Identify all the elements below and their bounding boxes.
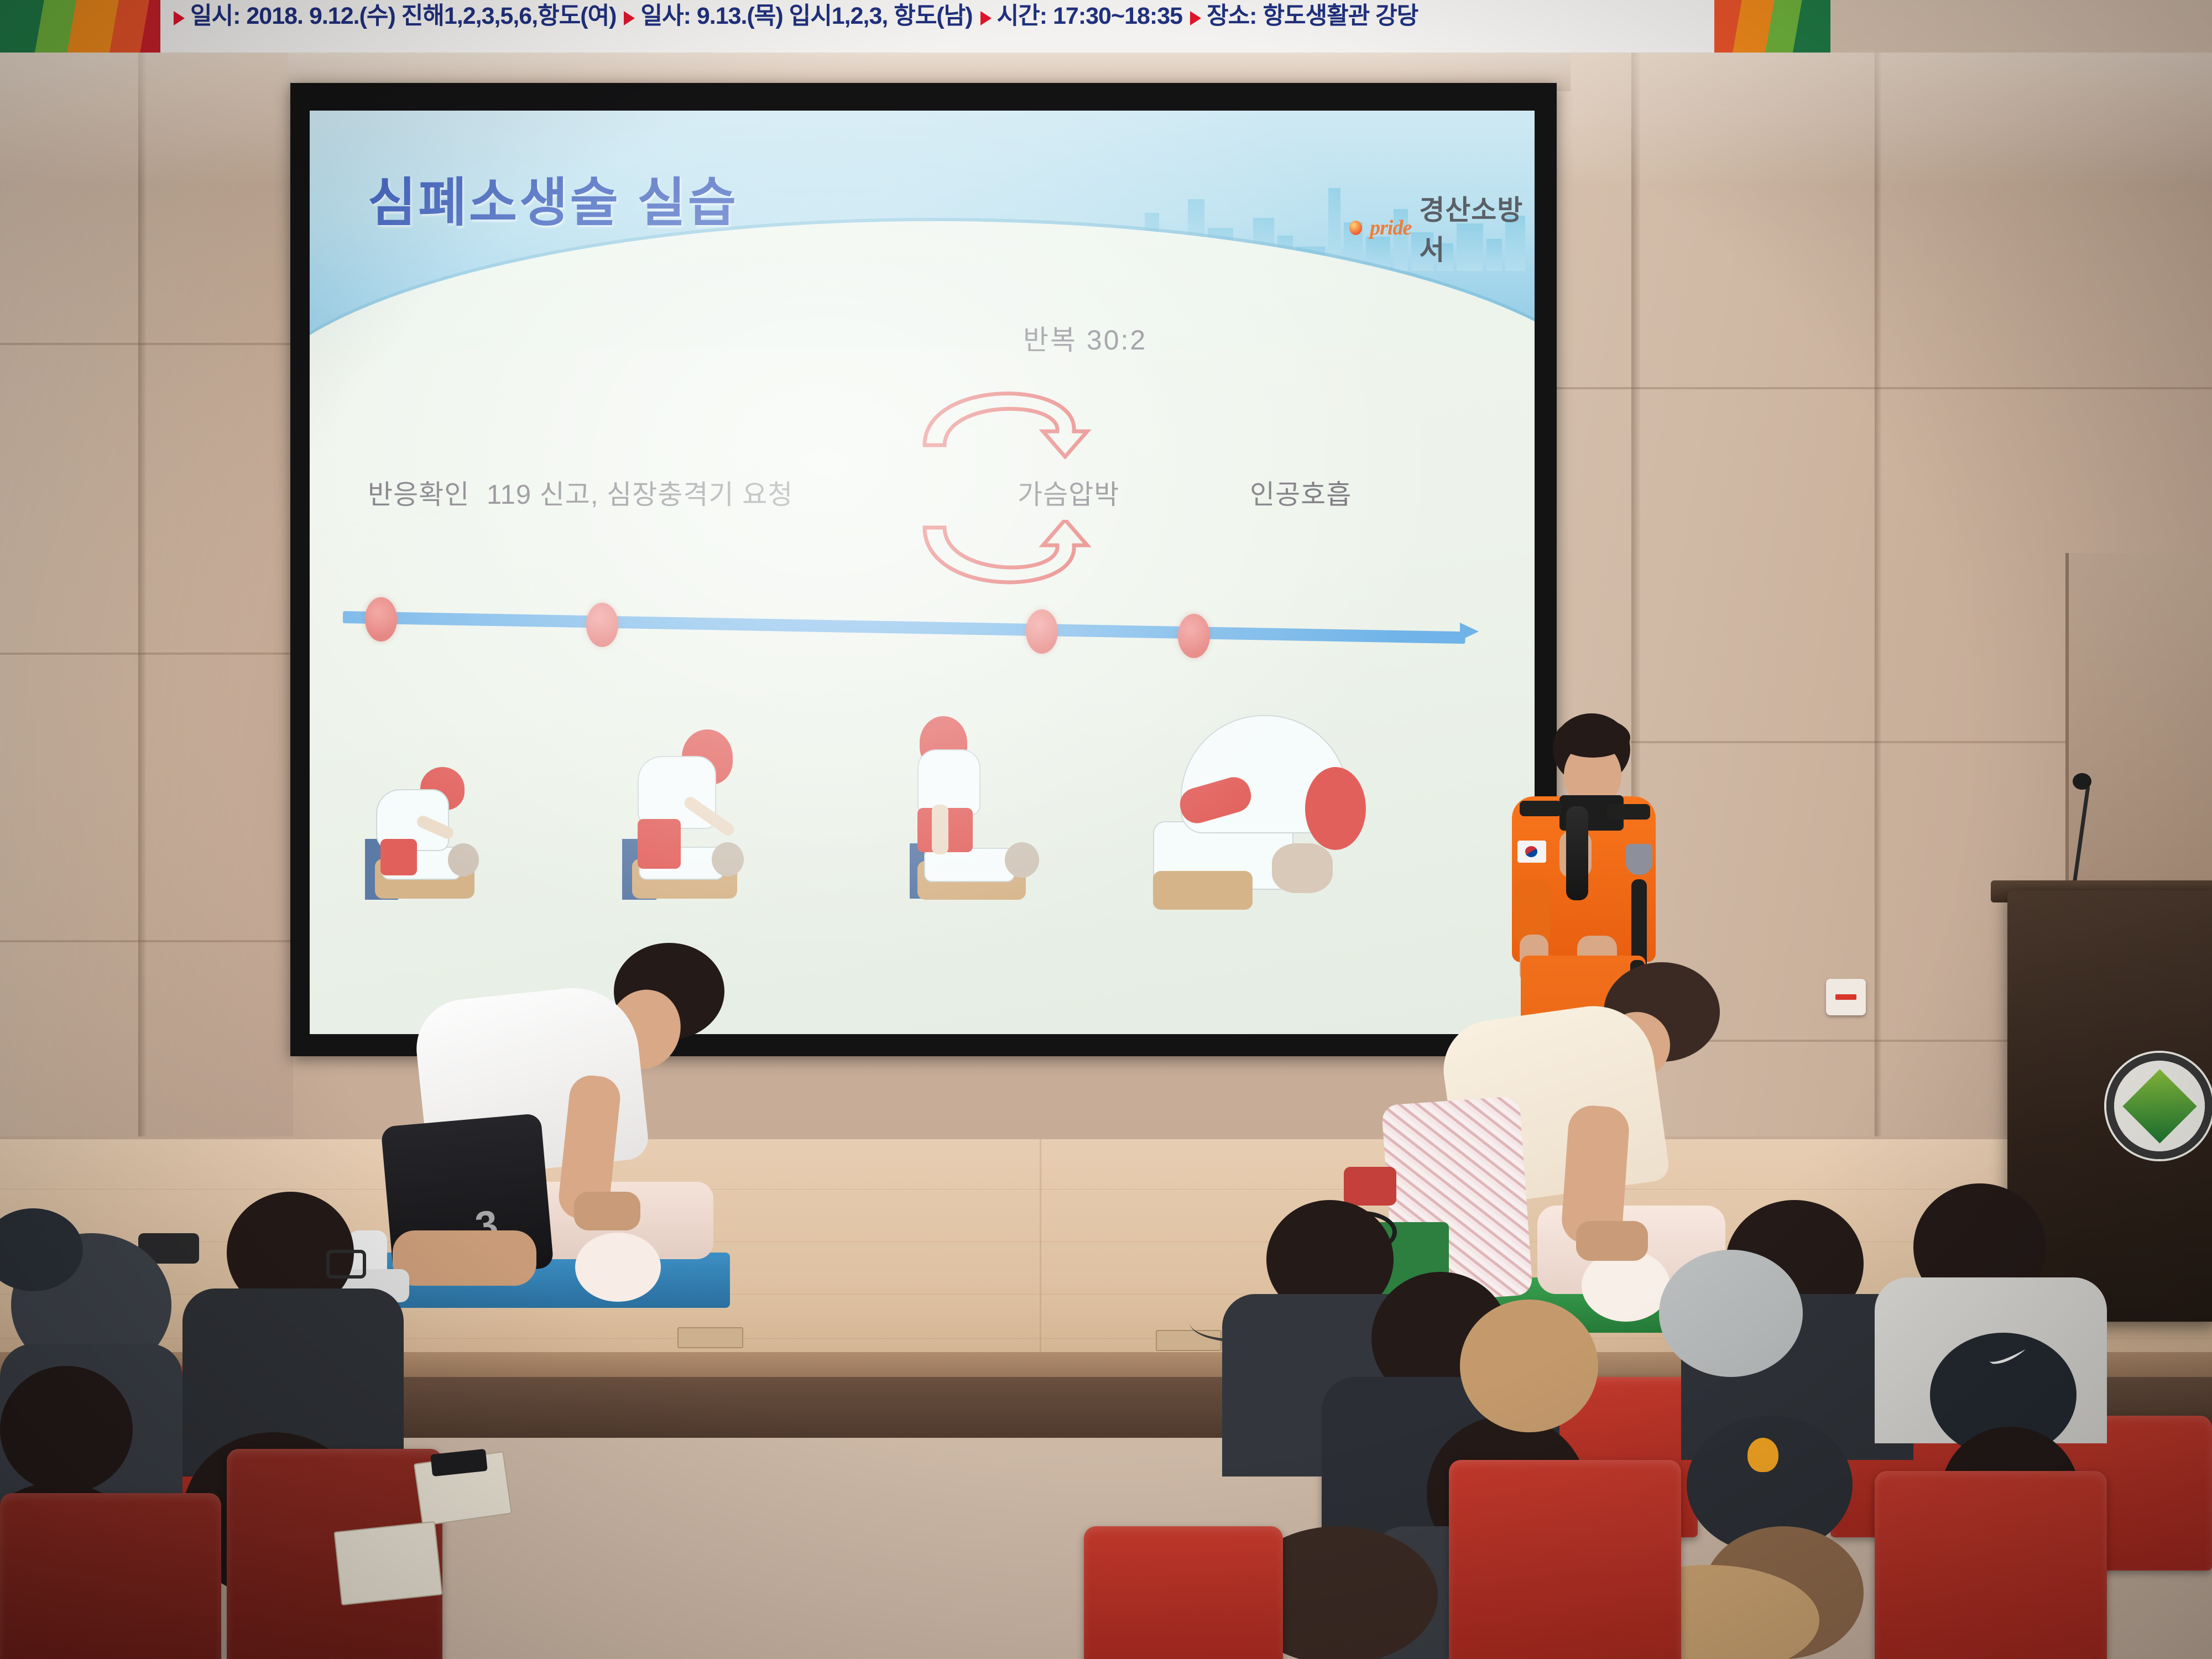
wall-panel-edge-right2 xyxy=(1875,53,1881,1136)
wall-seam-2 xyxy=(0,653,293,655)
podium-microphone-icon xyxy=(2073,773,2091,790)
banner-seg-3-label: 시간: 17:30~18:35 xyxy=(997,3,1182,29)
seat-fg-1[interactable] xyxy=(0,1493,221,1659)
event-banner: 일시: 2018. 9.12.(수) 진해1,2,3,5,6,항도(여)일사: … xyxy=(0,0,1830,53)
seat-fg-3[interactable] xyxy=(1449,1460,1681,1659)
instructor-fringe xyxy=(1555,718,1630,758)
banner-seg-1-marker xyxy=(174,11,185,25)
screen-light-glow xyxy=(310,111,1535,1034)
banner-text: 일시: 2018. 9.12.(수) 진해1,2,3,5,6,항도(여)일사: … xyxy=(166,0,1709,30)
instructor-flag-taegeuk-icon xyxy=(1525,846,1537,857)
wall-switch-indicator xyxy=(1835,994,1856,1000)
screenshot-root: 일시: 2018. 9.12.(수) 진해1,2,3,5,6,항도(여)일사: … xyxy=(0,0,2212,1659)
podium-emblem xyxy=(2104,1051,2212,1161)
banner-seg-2-label: 일사: 9.13.(목) 입시1,2,3, 항도(남) xyxy=(640,3,972,29)
instructor-microphone xyxy=(1566,806,1588,900)
banner-seg-3-marker xyxy=(980,11,992,25)
banner-seg-1-label: 일시: 2018. 9.12.(수) 진해1,2,3,5,6,항도(여) xyxy=(190,3,616,29)
banner-seg-4-label: 장소: 항도생활관 강당 xyxy=(1207,3,1418,29)
manikin-left-head xyxy=(575,1233,661,1302)
banner-seg-2-marker xyxy=(624,11,635,25)
floor-plank-5 xyxy=(1040,1139,1041,1355)
instructor-shoulder-emblem xyxy=(1626,844,1652,875)
podium-emblem-diamond-icon xyxy=(2122,1069,2197,1143)
seat-fg-4[interactable] xyxy=(1875,1471,2107,1659)
banner-stripe-left xyxy=(0,0,160,53)
trainee-left-group: 3 SUPER xyxy=(326,943,785,1341)
wall-seam-r1 xyxy=(1557,387,2212,389)
wall-panel-left xyxy=(0,53,293,1136)
wall-panel-edge-left xyxy=(138,53,146,1136)
ryan-character-icon xyxy=(1747,1438,1778,1472)
instructor-epaulet-left xyxy=(1520,801,1562,816)
wall-switch[interactable] xyxy=(1826,979,1866,1015)
audience-head-7-blonde xyxy=(1460,1300,1598,1432)
nike-swoosh-icon xyxy=(1988,1349,2027,1365)
trainee-right-hands xyxy=(1576,1221,1648,1261)
banner-seg-4-marker xyxy=(1190,11,1201,25)
audience-head-3 xyxy=(0,1366,133,1493)
audience-glasses-1 xyxy=(326,1250,366,1279)
wall-seam-3 xyxy=(0,940,293,942)
seat-fg-5[interactable] xyxy=(1084,1526,1283,1659)
banner-stripe-right xyxy=(1714,0,1830,53)
wall-seam-1 xyxy=(0,343,293,345)
audience-head-10-gray-hoodie xyxy=(1659,1250,1803,1377)
seat-writing-tablet-2[interactable] xyxy=(334,1521,443,1605)
projection-screen: 심폐소생술 실습 pride 경산소방서 반복 30:2 반응확인 119 신고… xyxy=(310,111,1535,1034)
trainee-left-knee xyxy=(393,1230,536,1286)
equipment-bag-red xyxy=(1344,1167,1396,1206)
instructor-epaulet-right xyxy=(1607,804,1650,820)
trainee-left-hands xyxy=(574,1192,640,1230)
